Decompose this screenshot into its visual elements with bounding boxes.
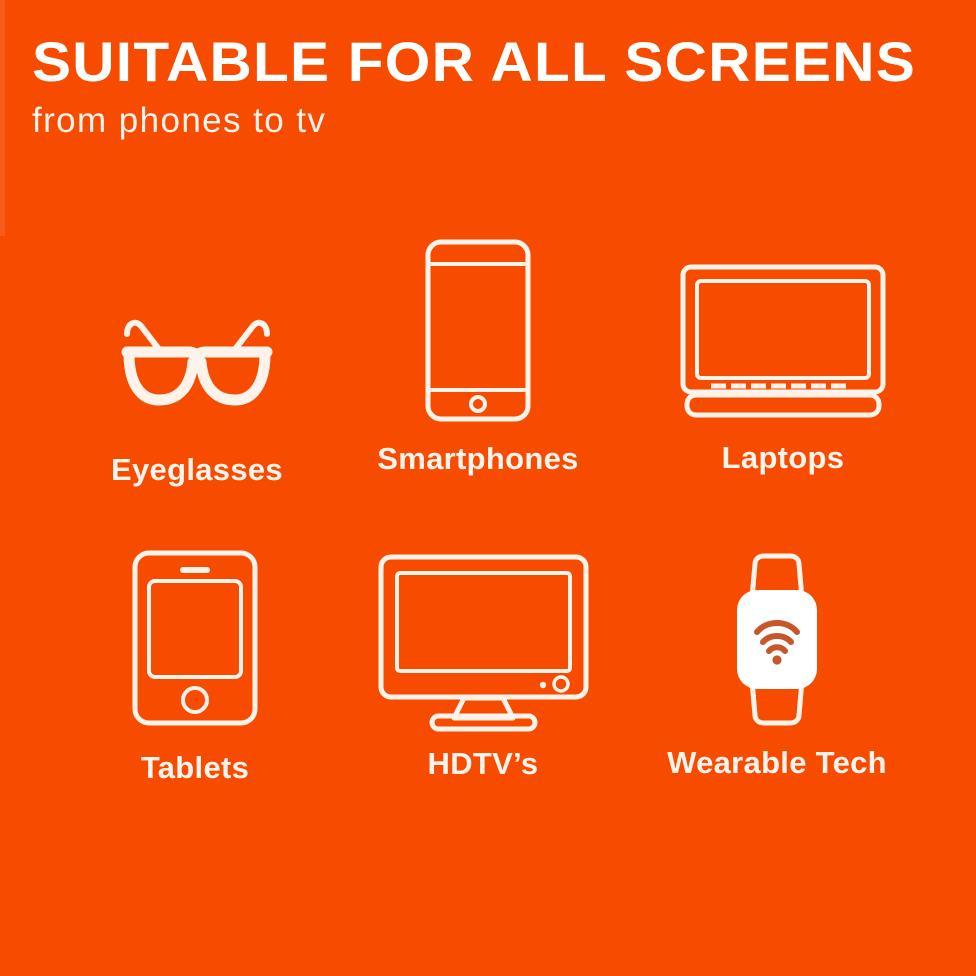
item-label-hdtvs: HDTV’s <box>343 746 623 782</box>
poster-canvas: SUITABLE FOR ALL SCREENS from phones to … <box>0 0 976 976</box>
smartwatch-icon-wrap <box>722 552 832 727</box>
item-label-wearable: Wearable Tech <box>637 745 917 781</box>
grid-item-smartphones[interactable]: Smartphones <box>338 238 618 477</box>
tablet-icon <box>130 548 260 728</box>
smartwatch-icon <box>722 552 832 727</box>
left-edge-band <box>0 0 5 236</box>
grid-item-laptops[interactable]: Laptops <box>643 262 923 476</box>
header-block: SUITABLE FOR ALL SCREENS from phones to … <box>32 30 932 142</box>
grid-item-hdtvs[interactable]: HDTV’s <box>343 552 623 782</box>
smartphone-icon-wrap <box>423 238 533 423</box>
grid-item-wearable[interactable]: Wearable Tech <box>637 552 917 781</box>
grid-item-tablets[interactable]: Tablets <box>55 548 335 786</box>
smartphone-icon <box>423 238 533 423</box>
page-title: SUITABLE FOR ALL SCREENS <box>32 30 972 94</box>
item-label-laptops: Laptops <box>643 440 923 476</box>
tablet-icon-wrap <box>130 548 260 728</box>
hdtv-icon <box>376 552 591 732</box>
item-label-smartphones: Smartphones <box>338 441 618 477</box>
eyeglasses-icon-wrap <box>117 300 277 430</box>
hdtv-icon-wrap <box>376 552 591 732</box>
item-label-eyeglasses: Eyeglasses <box>57 452 337 488</box>
eyeglasses-icon <box>117 300 277 430</box>
laptop-icon <box>678 262 888 422</box>
page-subtitle: from phones to tv <box>32 100 932 142</box>
item-label-tablets: Tablets <box>55 750 335 786</box>
laptop-icon-wrap <box>678 262 888 422</box>
grid-item-eyeglasses[interactable]: Eyeglasses <box>57 300 337 488</box>
